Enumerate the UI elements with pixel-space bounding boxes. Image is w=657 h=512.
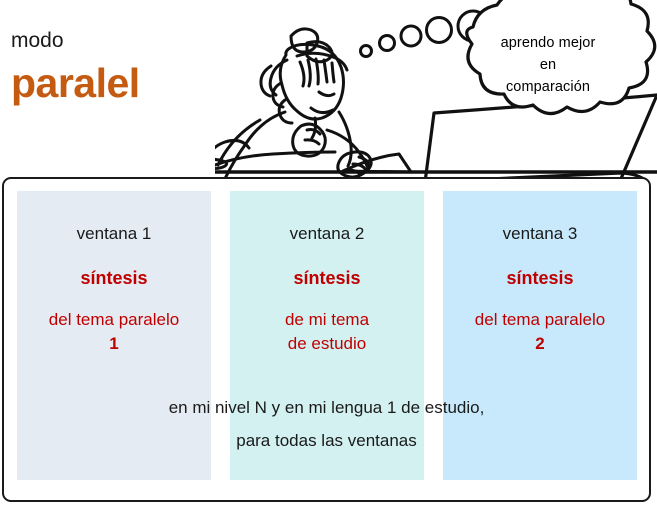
window-label-1: ventana 1: [17, 224, 211, 244]
thought-dot-1: [361, 46, 372, 57]
thought-bubble-line-3: comparación: [462, 76, 634, 98]
window-label-3: ventana 3: [443, 224, 637, 244]
window-column-1[interactable]: ventana 1 síntesis del tema paralelo 1: [17, 191, 211, 480]
description-1: del tema paralelo 1: [17, 308, 211, 356]
thought-bubble-line-1: aprendo mejor: [462, 32, 634, 54]
thought-dot-2: [380, 36, 395, 51]
thought-dot-3: [401, 26, 421, 46]
synthesis-label-1: síntesis: [17, 268, 211, 290]
title-block: modo paralel: [11, 30, 140, 105]
parallel-mode-board: ventana 1 síntesis del tema paralelo 1 v…: [2, 177, 651, 502]
window-column-3[interactable]: ventana 3 síntesis del tema paralelo 2: [443, 191, 637, 480]
mode-kicker-label: modo: [11, 30, 140, 51]
description-line-2b: de estudio: [230, 332, 424, 356]
page-title: paralel: [11, 62, 140, 105]
description-3: del tema paralelo 2: [443, 308, 637, 356]
synthesis-label-3: síntesis: [443, 268, 637, 290]
synthesis-label-2: síntesis: [230, 268, 424, 290]
description-2: de mi tema de estudio: [230, 308, 424, 356]
description-line-1b: 1: [17, 332, 211, 356]
description-line-2a: de mi tema: [230, 308, 424, 332]
header: modo paralel: [0, 0, 657, 178]
thought-dot-4: [427, 18, 452, 43]
window-columns: ventana 1 síntesis del tema paralelo 1 v…: [17, 191, 637, 480]
thought-bubble-text: aprendo mejor en comparación: [462, 32, 634, 98]
thought-bubble-line-2: en: [462, 54, 634, 76]
window-label-2: ventana 2: [230, 224, 424, 244]
description-line-1a: del tema paralelo: [17, 308, 211, 332]
description-line-3a: del tema paralelo: [443, 308, 637, 332]
window-column-2[interactable]: ventana 2 síntesis de mi tema de estudio: [230, 191, 424, 480]
description-line-3b: 2: [443, 332, 637, 356]
